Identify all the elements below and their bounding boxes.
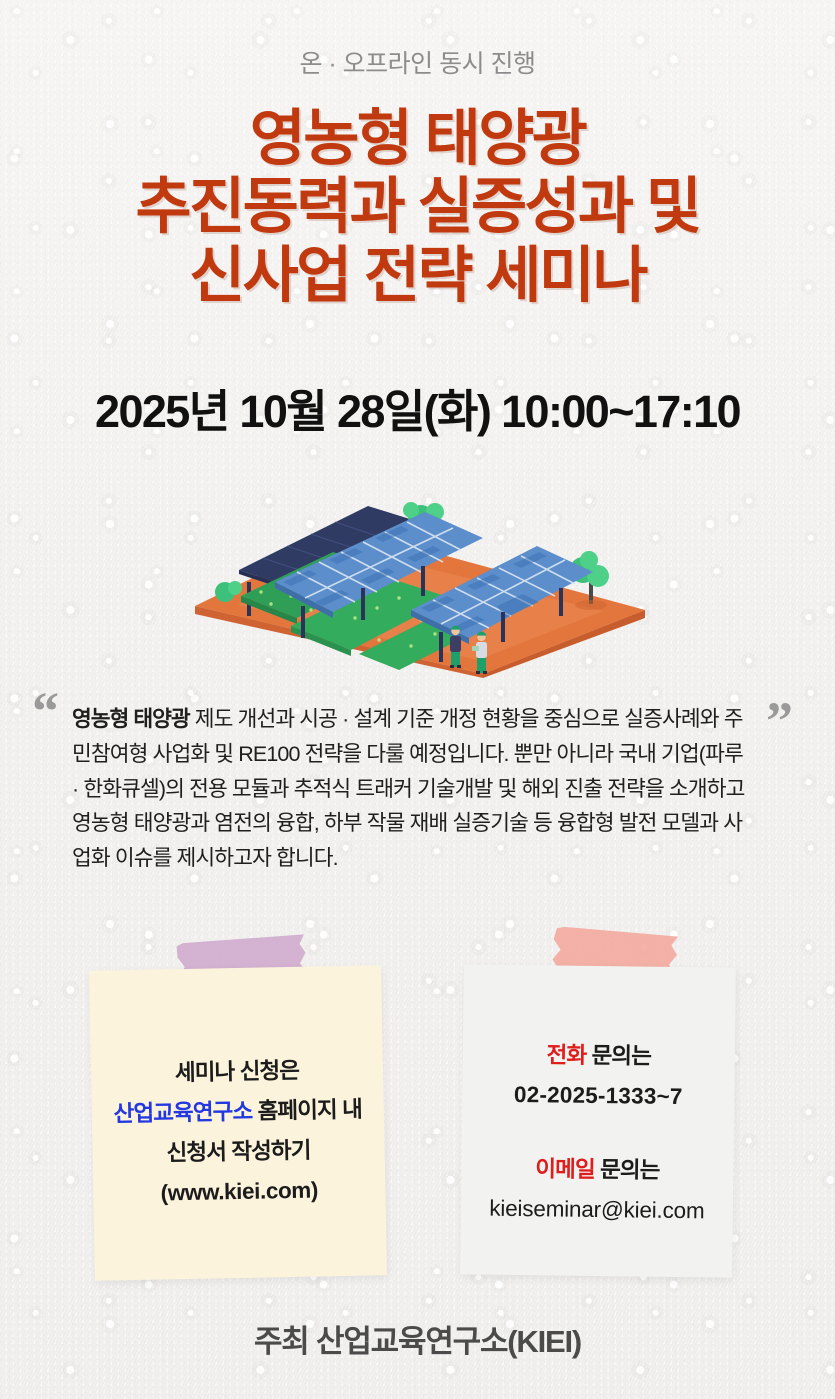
phone-number[interactable]: 02-2025-1333~7 xyxy=(462,1074,734,1117)
intro-paragraph: 영농형 태양광 제도 개선과 시공 · 설계 기준 개정 현황을 중심으로 실증… xyxy=(0,688,835,876)
intro-body-rest: 제도 개선과 시공 · 설계 기준 개정 현황을 중심으로 실증사례와 주민참여… xyxy=(72,707,745,870)
title-line-1: 영농형 태양광 xyxy=(0,104,835,172)
organization-name: 산업교육연구소 xyxy=(113,1099,252,1127)
registration-line-2-rest: 홈페이지 내 xyxy=(252,1097,362,1124)
organizer-footer: 주최 산업교육연구소(KIEI) xyxy=(0,1316,835,1361)
title-line-3: 신사업 전략 세미나 xyxy=(0,241,835,309)
registration-line-1: 세미나 신청은 xyxy=(91,1049,384,1095)
registration-note-card[interactable]: 세미나 신청은 산업교육연구소 홈페이지 내 신청서 작성하기 (www.kie… xyxy=(89,965,387,1281)
registration-line-3: 신청서 작성하기 xyxy=(92,1129,385,1175)
registration-line-2: 산업교육연구소 홈페이지 내 xyxy=(91,1089,384,1135)
phone-label: 전화 문의는 xyxy=(463,1034,735,1077)
email-label-accent: 이메일 xyxy=(535,1156,595,1182)
contact-note-card[interactable]: 전화 문의는 02-2025-1333~7 이메일 문의는 kieisemina… xyxy=(460,964,736,1277)
registration-website-link[interactable]: (www.kiei.com) xyxy=(93,1169,386,1215)
quote-open-icon: “ xyxy=(32,684,59,738)
email-address[interactable]: kieiseminar@kiei.com xyxy=(461,1188,733,1231)
intro-quote-block: “ ” 영농형 태양광 제도 개선과 시공 · 설계 기준 개정 현황을 중심으… xyxy=(0,688,835,876)
event-date-time: 2025년 10월 28일(화) 10:00~17:10 xyxy=(0,375,835,440)
contact-spacer xyxy=(462,1114,734,1151)
email-label-rest: 문의는 xyxy=(595,1157,660,1183)
phone-label-accent: 전화 xyxy=(546,1042,586,1067)
quote-close-icon: ” xyxy=(766,694,793,748)
seminar-poster: 온 · 오프라인 동시 진행 영농형 태양광 추진동력과 실증성과 및 신사업 … xyxy=(0,0,835,1399)
title-line-2: 추진동력과 실증성과 및 xyxy=(0,172,835,240)
agrivoltaic-solar-farm-illustration xyxy=(183,478,653,678)
page-title: 영농형 태양광 추진동력과 실증성과 및 신사업 전략 세미나 xyxy=(0,104,835,309)
email-label: 이메일 문의는 xyxy=(461,1148,733,1191)
phone-label-rest: 문의는 xyxy=(586,1043,651,1069)
kicker-text: 온 · 오프라인 동시 진행 xyxy=(0,44,835,80)
intro-lead-bold: 영농형 태양광 xyxy=(72,707,190,731)
